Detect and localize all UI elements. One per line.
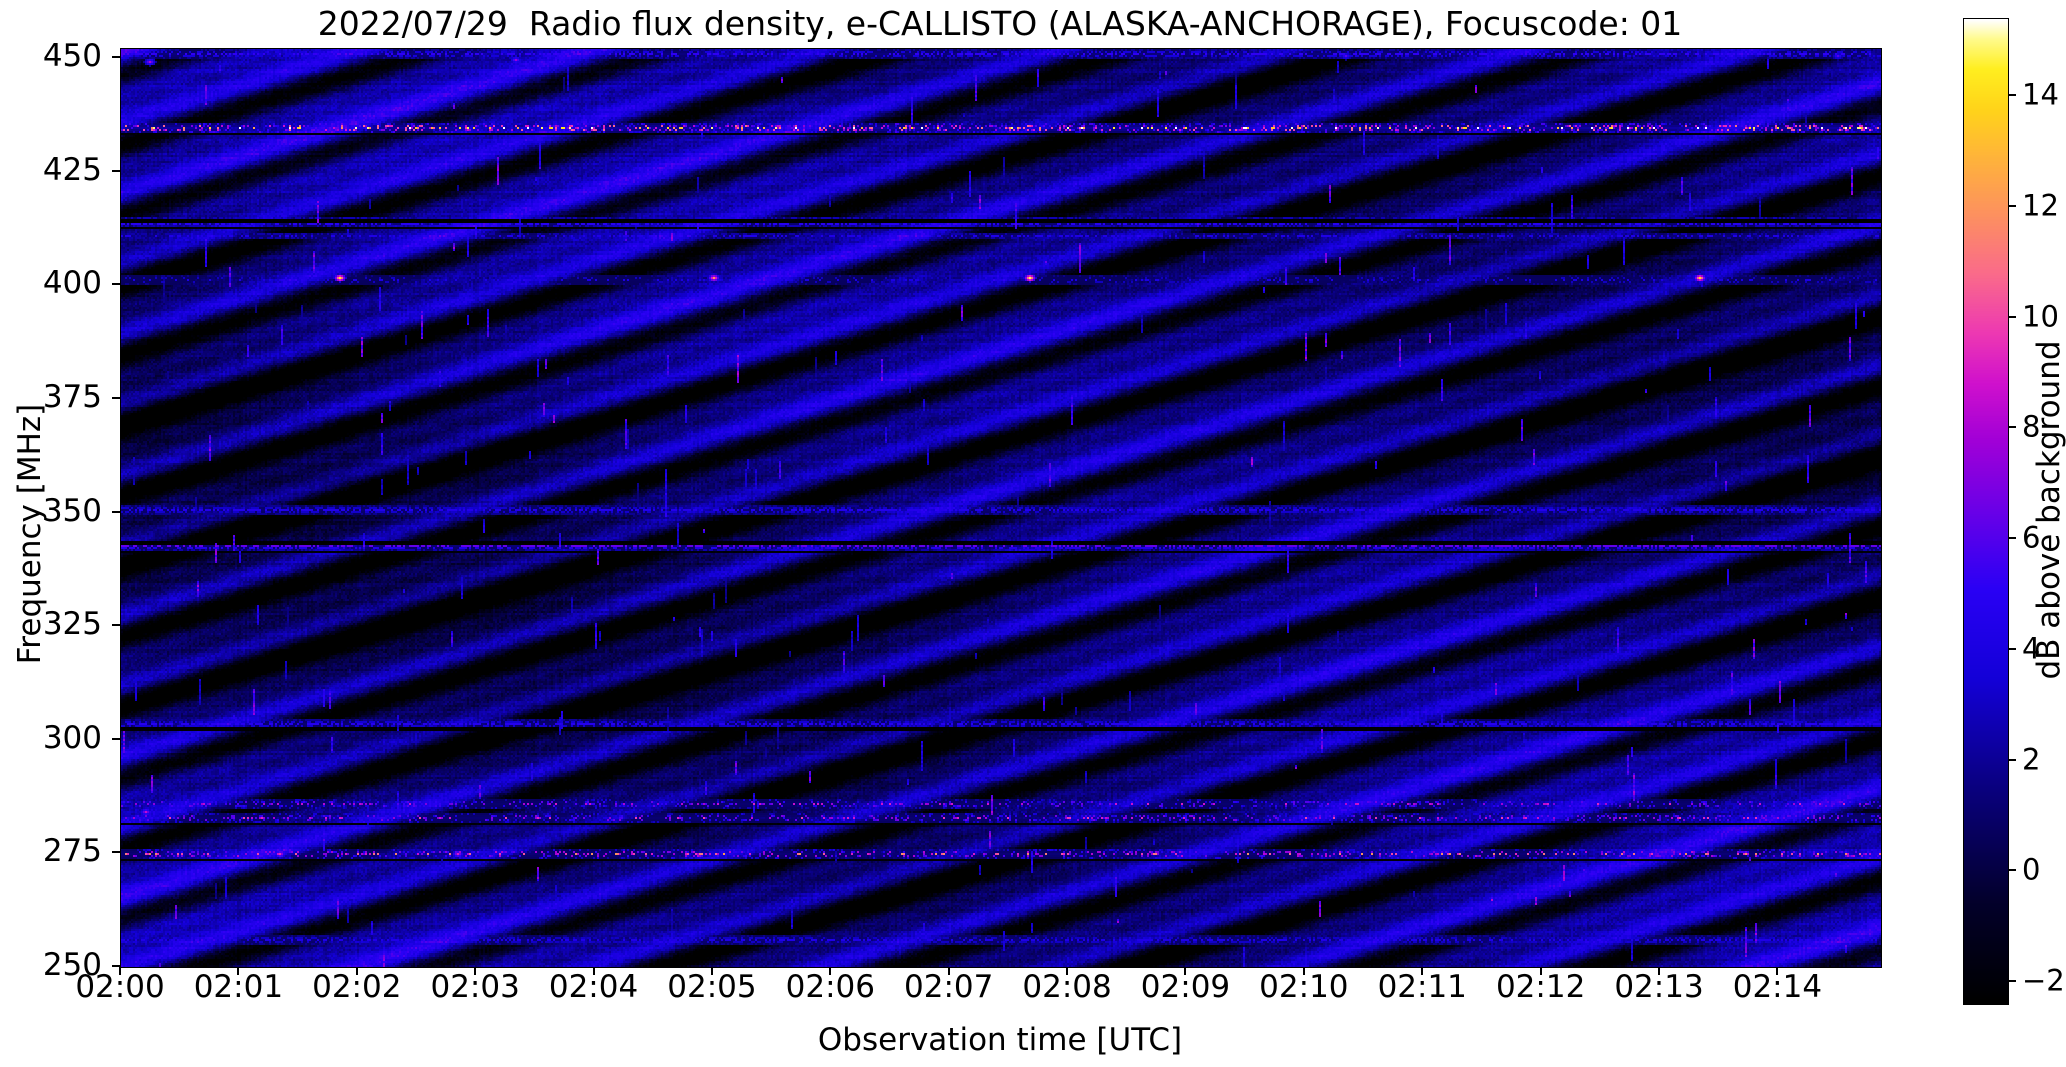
- figure-canvas: 2022/07/29 Radio flux density, e-CALLIST…: [0, 0, 2066, 1067]
- y-tick-label: 425: [0, 155, 102, 186]
- colorbar-tick-mark: [2008, 205, 2016, 207]
- colorbar-tick-mark: [2008, 537, 2016, 539]
- colorbar-tick-label: 14: [2022, 81, 2059, 110]
- x-tick-label: 02:08: [1022, 972, 1111, 1003]
- colorbar-label: dB above background: [2031, 340, 2066, 679]
- colorbar-tick-mark: [2008, 316, 2016, 318]
- colorbar-tick-mark: [2008, 94, 2016, 96]
- colorbar-gradient: [1964, 19, 2008, 1004]
- y-tick-mark: [112, 851, 120, 853]
- x-tick-label: 02:01: [194, 972, 283, 1003]
- colorbar-tick-label: 2: [2022, 745, 2040, 774]
- x-tick-label: 02:07: [904, 972, 993, 1003]
- y-tick-mark: [112, 624, 120, 626]
- x-tick-label: 02:02: [312, 972, 401, 1003]
- colorbar-tick-mark: [2008, 980, 2016, 982]
- y-tick-label: 300: [0, 723, 102, 754]
- colorbar: [1963, 18, 2009, 1005]
- colorbar-tick-mark: [2008, 648, 2016, 650]
- x-tick-label: 02:10: [1259, 972, 1348, 1003]
- colorbar-tick-mark: [2008, 759, 2016, 761]
- spectrogram-image: [121, 49, 1881, 967]
- colorbar-tick-label: 12: [2022, 192, 2059, 221]
- x-tick-label: 02:12: [1496, 972, 1585, 1003]
- y-tick-label: 400: [0, 268, 102, 299]
- y-tick-mark: [112, 170, 120, 172]
- x-tick-label: 02:11: [1378, 972, 1467, 1003]
- x-tick-label: 02:00: [75, 972, 164, 1003]
- y-tick-label: 375: [0, 382, 102, 413]
- spectrogram-axes: [120, 48, 1882, 968]
- y-tick-mark: [112, 56, 120, 58]
- y-tick-mark: [112, 511, 120, 513]
- colorbar-tick-mark: [2008, 869, 2016, 871]
- y-tick-label: 450: [0, 41, 102, 72]
- y-tick-label: 325: [0, 609, 102, 640]
- y-tick-label: 350: [0, 496, 102, 527]
- colorbar-tick-mark: [2008, 426, 2016, 428]
- x-tick-label: 02:03: [430, 972, 519, 1003]
- x-tick-label: 02:06: [786, 972, 875, 1003]
- page-title: 2022/07/29 Radio flux density, e-CALLIST…: [120, 4, 1880, 44]
- x-axis-label: Observation time [UTC]: [120, 1022, 1880, 1058]
- colorbar-tick-label: 0: [2022, 856, 2040, 885]
- x-tick-label: 02:09: [1141, 972, 1230, 1003]
- x-tick-label: 02:13: [1614, 972, 1703, 1003]
- y-tick-label: 275: [0, 836, 102, 867]
- colorbar-tick-label: 10: [2022, 302, 2059, 331]
- x-tick-label: 02:05: [667, 972, 756, 1003]
- x-tick-label: 02:14: [1733, 972, 1822, 1003]
- y-tick-mark: [112, 397, 120, 399]
- colorbar-tick-label: −2: [2022, 966, 2065, 995]
- x-tick-label: 02:04: [549, 972, 638, 1003]
- y-tick-mark: [112, 738, 120, 740]
- y-tick-mark: [112, 283, 120, 285]
